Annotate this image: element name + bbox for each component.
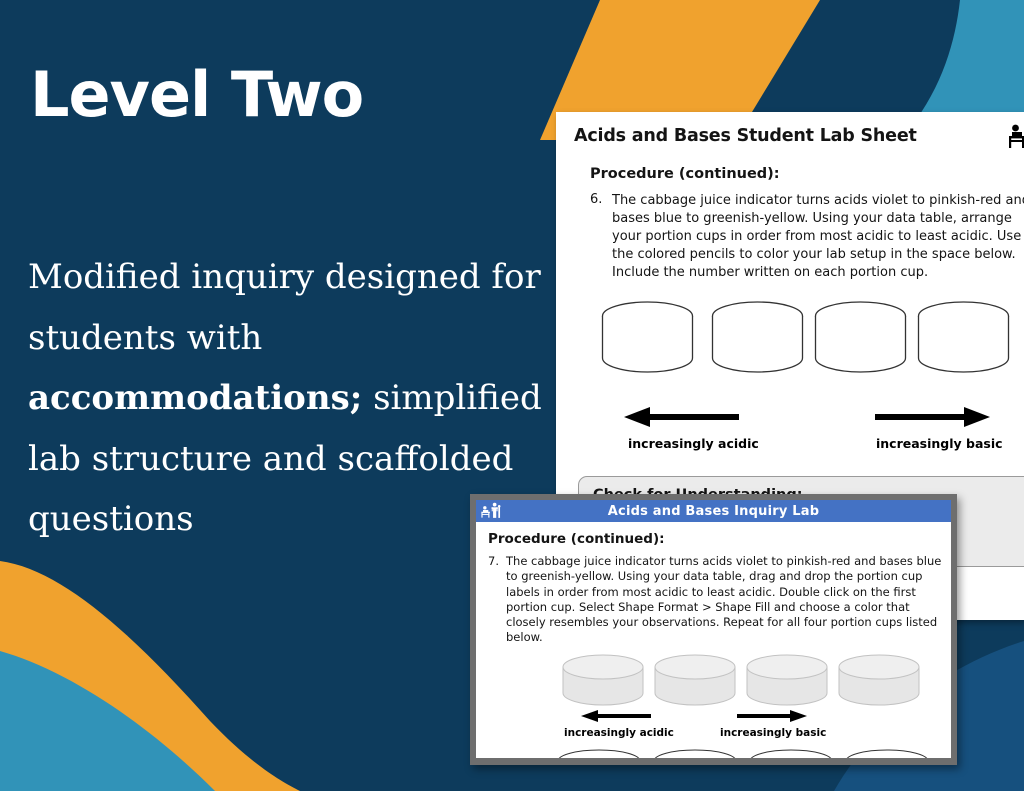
inquiry-lab-title: Acids and Bases Inquiry Lab: [476, 504, 951, 519]
page-title: Level Two: [30, 62, 550, 127]
portion-cup-outline: [748, 749, 834, 758]
lab-sheet-step-text: The cabbage juice indicator turns acids …: [612, 192, 1024, 282]
labeled-portion-cup[interactable]: 2 baking powder: [652, 749, 738, 758]
lab-sheet-step-number: 6.: [590, 192, 612, 282]
inquiry-procedure-heading: Procedure (continued):: [488, 531, 951, 547]
inquiry-lab-window[interactable]: Acids and Bases Inquiry Lab Procedure (c…: [470, 494, 957, 765]
labeled-portion-cup[interactable]: 1 sugar: [556, 749, 642, 758]
left-arrow-icon: [624, 406, 739, 428]
label-increasingly-acidic: increasingly acidic: [564, 727, 674, 739]
portion-cup-fillable[interactable]: [838, 654, 920, 706]
lab-sheet-cylinder-row: [600, 300, 1024, 400]
labeled-portion-cup[interactable]: 4 water: [844, 749, 930, 758]
lab-sheet-title: Acids and Bases Student Lab Sheet: [574, 126, 1024, 146]
portion-cup-fillable[interactable]: [654, 654, 736, 706]
presentation-slide: Level Two Modified inquiry designed for …: [0, 0, 1024, 791]
inquiry-empty-cup-row: [562, 654, 951, 709]
portion-cup-outline: [652, 749, 738, 758]
bottom-left-decoration: [0, 561, 420, 791]
portion-cup-outline[interactable]: [813, 300, 908, 378]
inquiry-lab-titlebar[interactable]: Acids and Bases Inquiry Lab: [476, 500, 951, 522]
inquiry-step: 7. The cabbage juice indicator turns aci…: [488, 554, 943, 646]
body-text-pre: Modified inquiry designed for students w…: [28, 257, 541, 358]
lab-sheet-step: 6. The cabbage juice indicator turns aci…: [590, 192, 1024, 282]
right-arrow-icon: [737, 709, 807, 723]
label-increasingly-acidic: increasingly acidic: [628, 436, 759, 451]
inquiry-step-number: 7.: [488, 554, 506, 646]
portion-cup-outline[interactable]: [600, 300, 695, 378]
teacher-student-icon: [480, 502, 504, 520]
labeled-portion-cup[interactable]: 3 vinegar: [748, 749, 834, 758]
ke-sci-logo: KE SCI: [1007, 116, 1024, 156]
portion-cup-outline: [844, 749, 930, 758]
label-increasingly-basic: increasingly basic: [720, 727, 826, 739]
label-increasingly-basic: increasingly basic: [876, 436, 1003, 451]
inquiry-arrow-row: increasingly acidic increasingly basic: [562, 709, 942, 747]
portion-cup-fillable[interactable]: [746, 654, 828, 706]
inquiry-labeled-cup-row: 1 sugar 2 baking powder: [556, 749, 951, 758]
portion-cup-fillable[interactable]: [562, 654, 644, 706]
title-block: Level Two: [30, 62, 550, 127]
lab-sheet-arrow-row: increasingly acidic increasingly basic: [600, 406, 1024, 460]
portion-cup-outline[interactable]: [710, 300, 805, 378]
right-arrow-icon: [875, 406, 990, 428]
portion-cup-outline: [556, 749, 642, 758]
portion-cup-outline[interactable]: [916, 300, 1011, 378]
left-arrow-icon: [581, 709, 651, 723]
lab-sheet-procedure-heading: Procedure (continued):: [590, 166, 1024, 182]
teacher-student-icon: [1007, 116, 1024, 156]
inquiry-step-text: The cabbage juice indicator turns acids …: [506, 554, 943, 646]
body-text-emphasis: accommodations;: [28, 378, 362, 418]
